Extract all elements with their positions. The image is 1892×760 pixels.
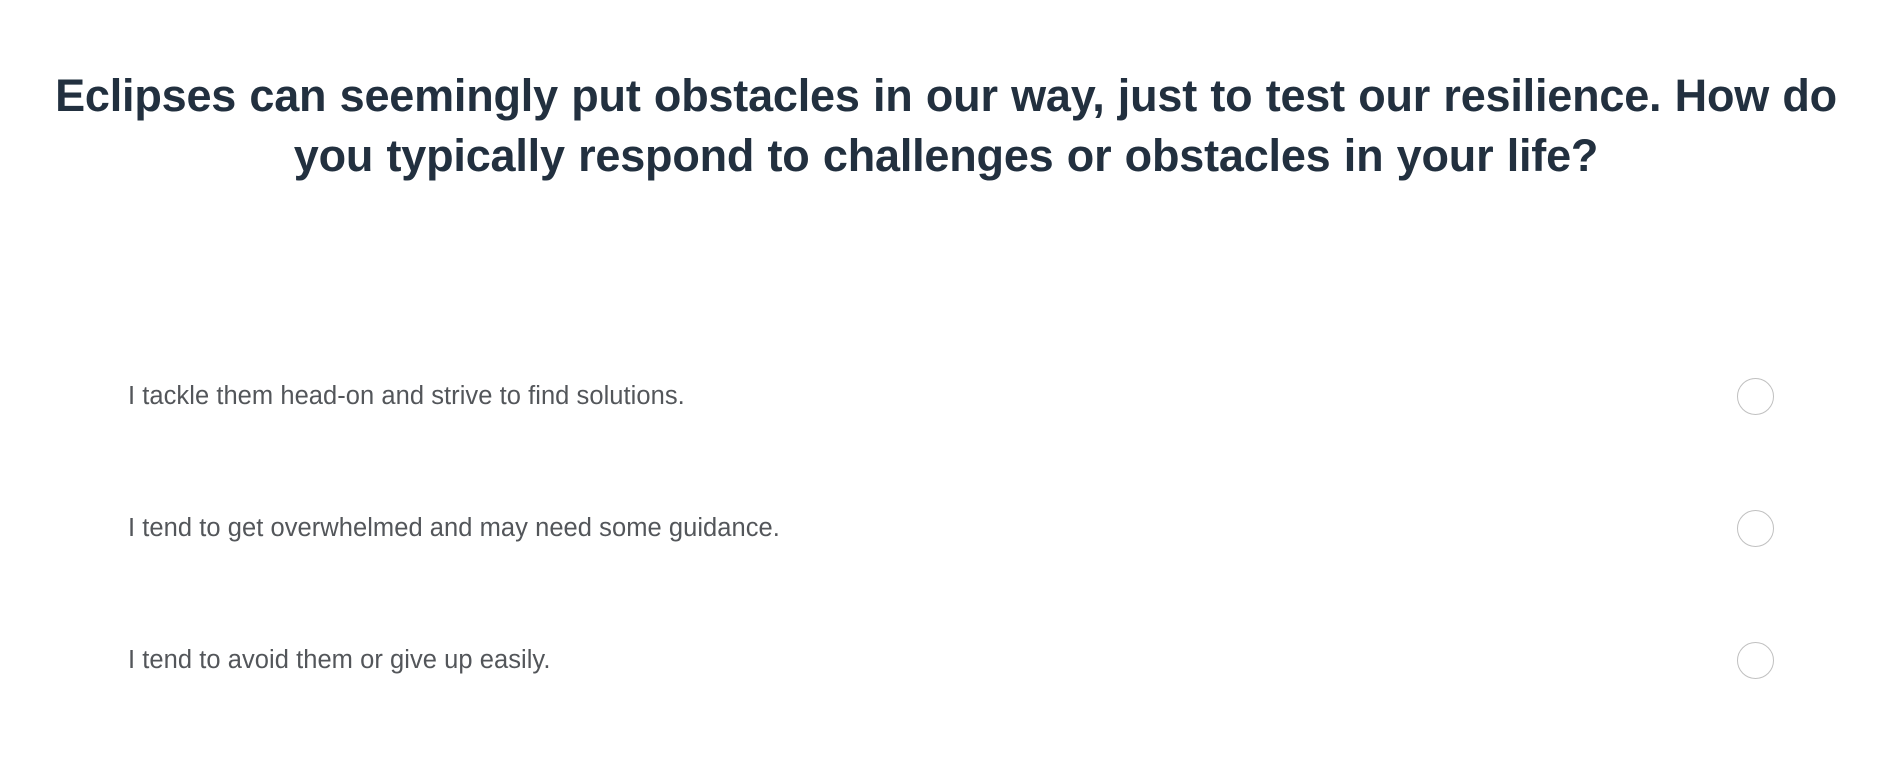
radio-unchecked-icon[interactable] [1737, 510, 1774, 547]
answer-option-label: I tend to get overwhelmed and may need s… [128, 511, 780, 545]
answer-options-list: I tackle them head-on and strive to find… [0, 368, 1892, 688]
answer-option-label: I tend to avoid them or give up easily. [128, 643, 550, 677]
radio-unchecked-icon[interactable] [1737, 378, 1774, 415]
answer-option-row[interactable]: I tend to avoid them or give up easily. [0, 632, 1892, 688]
answer-option-label: I tackle them head-on and strive to find… [128, 379, 685, 413]
question-title: Eclipses can seemingly put obstacles in … [30, 66, 1862, 186]
answer-option-row[interactable]: I tackle them head-on and strive to find… [0, 368, 1892, 424]
quiz-question-page: Eclipses can seemingly put obstacles in … [0, 0, 1892, 760]
answer-option-row[interactable]: I tend to get overwhelmed and may need s… [0, 500, 1892, 556]
radio-unchecked-icon[interactable] [1737, 642, 1774, 679]
